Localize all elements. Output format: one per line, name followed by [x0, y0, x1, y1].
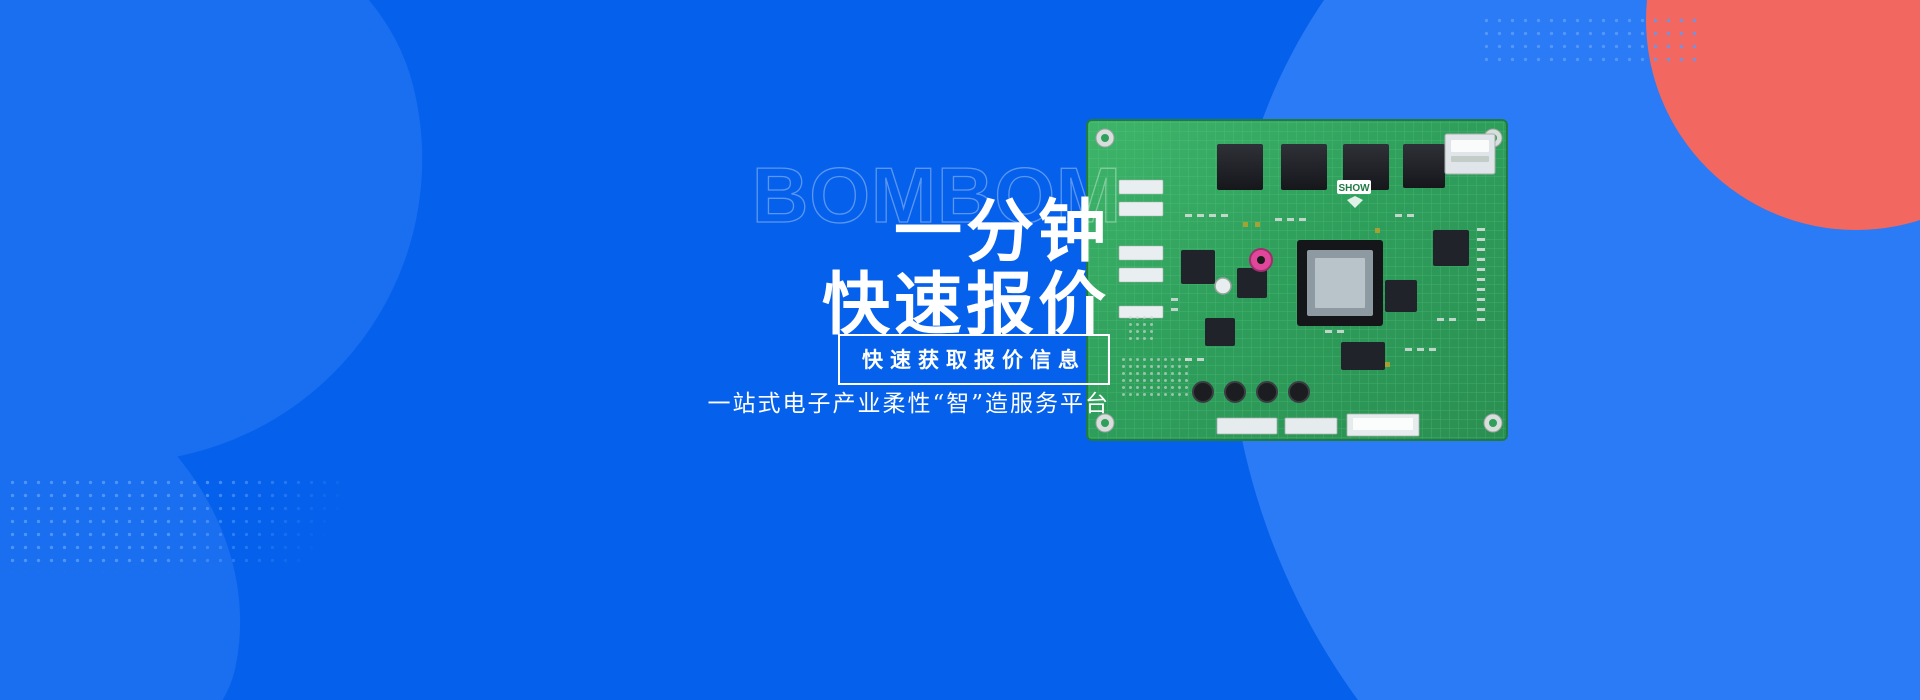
pcb-illustration: SHOW — [1085, 118, 1515, 448]
promo-banner: SHOW — [0, 0, 1920, 700]
hero-text-block: BOMBOM 一分钟 快速报价 快速获取报价信息 一站式电子产业柔性“智”造服务… — [660, 150, 1110, 420]
pcb-board-image: SHOW — [1085, 118, 1515, 448]
headline: 一分钟 快速报价 — [660, 198, 1110, 341]
tagline: 一站式电子产业柔性“智”造服务平台 — [707, 384, 1110, 418]
badge-label: 快速获取报价信息 — [862, 348, 1086, 372]
svg-text:SHOW: SHOW — [1338, 183, 1370, 194]
badge-box[interactable]: 快速获取报价信息 — [838, 334, 1110, 385]
headline-line-2: 快速报价 — [660, 271, 1110, 340]
headline-line-1: 一分钟 — [660, 198, 1110, 267]
dot-grid-top-right — [1480, 14, 1700, 70]
dot-grid-bottom-left — [6, 476, 341, 572]
